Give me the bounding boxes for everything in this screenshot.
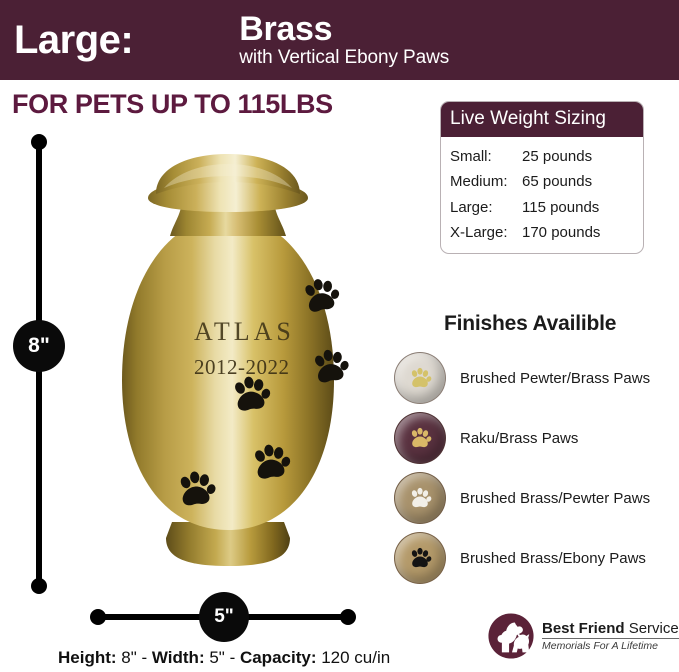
paw-print-icon bbox=[407, 545, 433, 571]
engraved-name: ATLAS bbox=[194, 317, 295, 346]
product-infographic: Large: Brass with Vertical Ebony Paws FO… bbox=[0, 0, 679, 672]
logo-name-light: Services bbox=[629, 620, 679, 637]
engraved-dates: 2012-2022 bbox=[194, 355, 290, 379]
size-weight: 25 pounds bbox=[522, 148, 592, 165]
size-weight: 115 pounds bbox=[522, 199, 599, 216]
logo-name-bold: Best Friend bbox=[542, 620, 625, 637]
brand-logo: Best Friend Services® Memorials For A Li… bbox=[487, 612, 679, 660]
logo-tagline: Memorials For A Lifetime bbox=[542, 641, 679, 652]
urn-product-image: ATLAS 2012-2022 bbox=[78, 152, 378, 582]
finish-label: Raku/Brass Paws bbox=[460, 430, 578, 447]
caption-capacity-label: Capacity: bbox=[240, 648, 317, 667]
width-badge: 5" bbox=[199, 592, 249, 642]
sizing-card-body: Small: 25 pounds Medium: 65 pounds Large… bbox=[441, 137, 643, 253]
table-row: Large: 115 pounds bbox=[450, 195, 643, 220]
size-name: Small: bbox=[450, 148, 522, 165]
headline-pet-weight: FOR PETS UP TO 115LBS bbox=[12, 89, 333, 120]
header-bar: Large: Brass with Vertical Ebony Paws bbox=[0, 0, 679, 80]
caption-capacity-number: 120 cu/in bbox=[321, 648, 390, 667]
urn-illustration: ATLAS 2012-2022 bbox=[78, 152, 378, 582]
finish-option-brushed-brass-pewter-paws[interactable]: Brushed Brass/Pewter Paws bbox=[394, 472, 650, 524]
size-weight: 65 pounds bbox=[522, 173, 592, 190]
product-title: Brass bbox=[239, 12, 449, 48]
caption-height-label: Height: bbox=[58, 648, 117, 667]
caption-width-number: 5" bbox=[209, 648, 225, 667]
caption-sep-2: - bbox=[225, 648, 240, 667]
table-row: Small: 25 pounds bbox=[450, 144, 643, 169]
dimension-endpoint-dot bbox=[31, 134, 47, 150]
size-label: Large: bbox=[14, 20, 133, 60]
dimension-endpoint-dot bbox=[90, 609, 106, 625]
size-name: Medium: bbox=[450, 173, 522, 190]
table-row: X-Large: 170 pounds bbox=[450, 220, 643, 245]
live-weight-sizing-card: Live Weight Sizing Small: 25 pounds Medi… bbox=[440, 101, 644, 254]
finish-swatch[interactable] bbox=[394, 532, 446, 584]
table-row: Medium: 65 pounds bbox=[450, 169, 643, 194]
height-badge: 8" bbox=[13, 320, 65, 372]
product-heading: Brass with Vertical Ebony Paws bbox=[239, 12, 449, 69]
logo-text-block: Best Friend Services® Memorials For A Li… bbox=[542, 620, 679, 653]
finishes-title: Finishes Availible bbox=[444, 312, 616, 336]
caption-height-number: 8" bbox=[121, 648, 137, 667]
dimension-endpoint-dot bbox=[340, 609, 356, 625]
finish-swatch[interactable] bbox=[394, 412, 446, 464]
finish-option-raku-brass-paws[interactable]: Raku/Brass Paws bbox=[394, 412, 578, 464]
size-name: X-Large: bbox=[450, 224, 522, 241]
product-subtitle: with Vertical Ebony Paws bbox=[239, 48, 449, 68]
paw-print-icon bbox=[407, 365, 433, 391]
logo-company-name: Best Friend Services® bbox=[542, 620, 679, 640]
dimensions-caption: Height: 8" - Width: 5" - Capacity: 120 c… bbox=[58, 648, 390, 668]
dimension-endpoint-dot bbox=[31, 578, 47, 594]
finish-swatch[interactable] bbox=[394, 472, 446, 524]
size-name: Large: bbox=[450, 199, 522, 216]
caption-sep-1: - bbox=[137, 648, 152, 667]
finish-option-brushed-pewter-brass-paws[interactable]: Brushed Pewter/Brass Paws bbox=[394, 352, 650, 404]
finish-option-brushed-brass-ebony-paws[interactable]: Brushed Brass/Ebony Paws bbox=[394, 532, 646, 584]
sizing-card-title: Live Weight Sizing bbox=[441, 102, 643, 137]
paw-print-icon bbox=[407, 425, 433, 451]
finish-swatch[interactable] bbox=[394, 352, 446, 404]
paw-print-icon bbox=[407, 485, 433, 511]
finish-label: Brushed Pewter/Brass Paws bbox=[460, 370, 650, 387]
size-weight: 170 pounds bbox=[522, 224, 600, 241]
finish-label: Brushed Brass/Pewter Paws bbox=[460, 490, 650, 507]
dog-cat-logo-icon bbox=[487, 612, 535, 660]
finish-label: Brushed Brass/Ebony Paws bbox=[460, 550, 646, 567]
caption-width-label: Width: bbox=[152, 648, 205, 667]
